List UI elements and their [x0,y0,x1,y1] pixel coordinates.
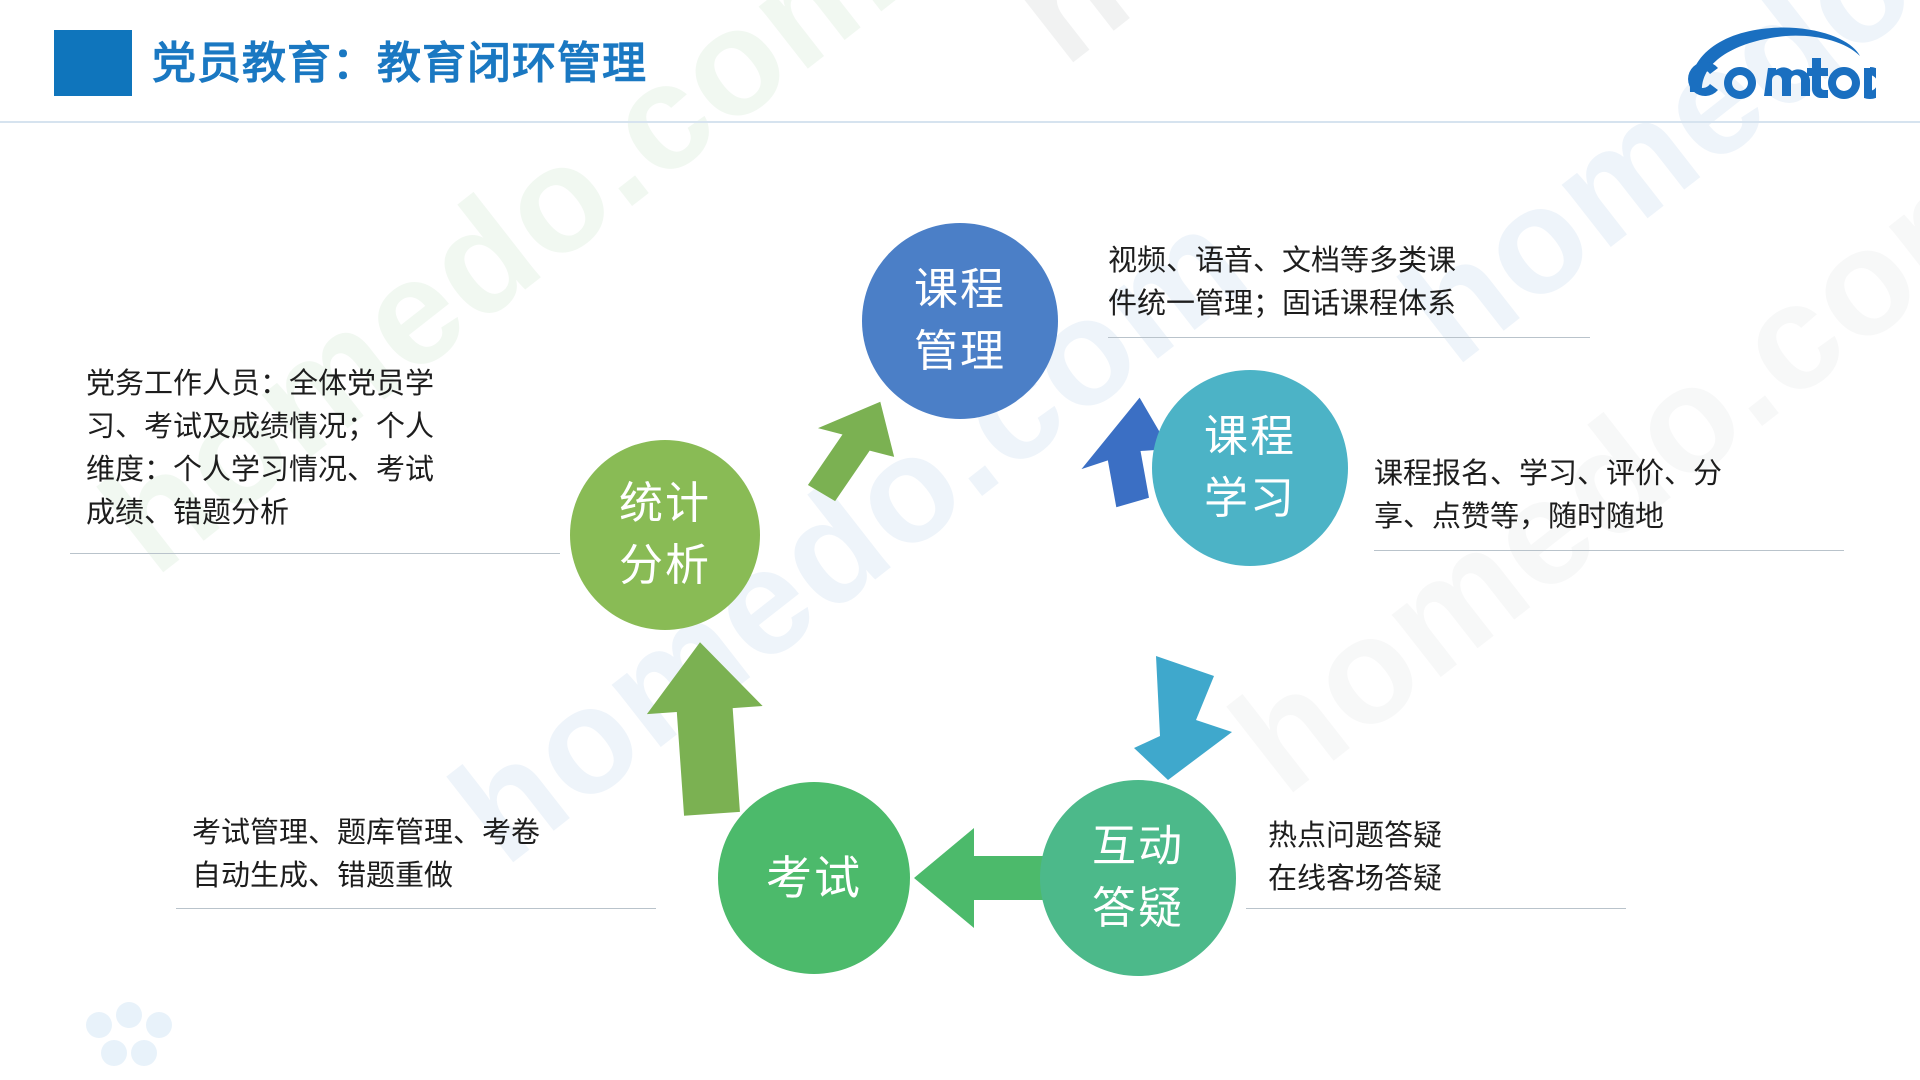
node-label-line1: 考试 [766,847,862,909]
description-line: 习、考试及成绩情况；个人 [86,406,546,449]
description-underline [1374,550,1844,551]
node-label-line1: 课程 [1204,406,1296,468]
description-underline [1246,908,1626,909]
description-underline [70,553,560,554]
description-line: 党务工作人员：全体党员学 [86,363,546,406]
flower-petal-icon [131,1040,157,1066]
node-label-line1: 课程 [914,259,1006,321]
node-label-line2: 分析 [619,535,711,597]
description-line: 课程报名、学习、评价、分 [1374,453,1834,496]
node-label-line2: 管理 [914,321,1006,383]
description-underline [176,908,656,909]
description-statistics-analysis: 党务工作人员：全体党员学 习、考试及成绩情况；个人 维度：个人学习情况、考试 成… [86,363,546,535]
comtop-logo [1684,22,1876,102]
description-underline [1108,337,1590,338]
slide-canvas: homedo.com homedo.com homedo.com homedo.… [0,0,1920,1080]
description-line: 件统一管理；固话课程体系 [1108,283,1578,326]
description-line: 享、点赞等，随时随地 [1374,496,1834,539]
flower-petal-icon [116,1002,142,1028]
node-label-line2: 答疑 [1092,878,1184,940]
slide-header: 党员教育：教育闭环管理 [0,0,1920,122]
description-exam: 考试管理、题库管理、考卷 自动生成、错题重做 [192,812,642,898]
description-line: 成绩、错题分析 [86,492,546,535]
description-line: 考试管理、题库管理、考卷 [192,812,642,855]
description-line: 视频、语音、文档等多类课 [1108,240,1578,283]
description-course-study: 课程报名、学习、评价、分 享、点赞等，随时随地 [1374,453,1834,539]
node-label-line1: 统计 [619,473,711,535]
node-course-study[interactable]: 课程 学习 [1152,370,1348,566]
flower-petal-icon [101,1040,127,1066]
description-course-management: 视频、语音、文档等多类课 件统一管理；固话课程体系 [1108,240,1578,326]
header-divider [0,121,1920,123]
node-exam[interactable]: 考试 [718,782,910,974]
description-line: 热点问题答疑 [1268,815,1608,858]
node-label-line1: 互动 [1092,816,1184,878]
page-title: 党员教育：教育闭环管理 [152,36,647,92]
node-label-line2: 学习 [1204,468,1296,530]
node-statistics-analysis[interactable]: 统计 分析 [570,440,760,630]
arrow-interaction-to-exam [912,818,1052,938]
description-line: 自动生成、错题重做 [192,855,642,898]
description-line: 维度：个人学习情况、考试 [86,449,546,492]
node-course-management[interactable]: 课程 管理 [862,223,1058,419]
arrow-exam-to-statistics [640,638,780,818]
arrow-stats-to-course-management [766,396,926,536]
node-interaction-qa[interactable]: 互动 答疑 [1040,780,1236,976]
title-accent-chip [54,30,132,96]
description-interaction-qa: 热点问题答疑 在线客场答疑 [1268,815,1608,901]
description-line: 在线客场答疑 [1268,858,1608,901]
flower-petal-icon [146,1012,172,1038]
flower-petal-icon [86,1012,112,1038]
